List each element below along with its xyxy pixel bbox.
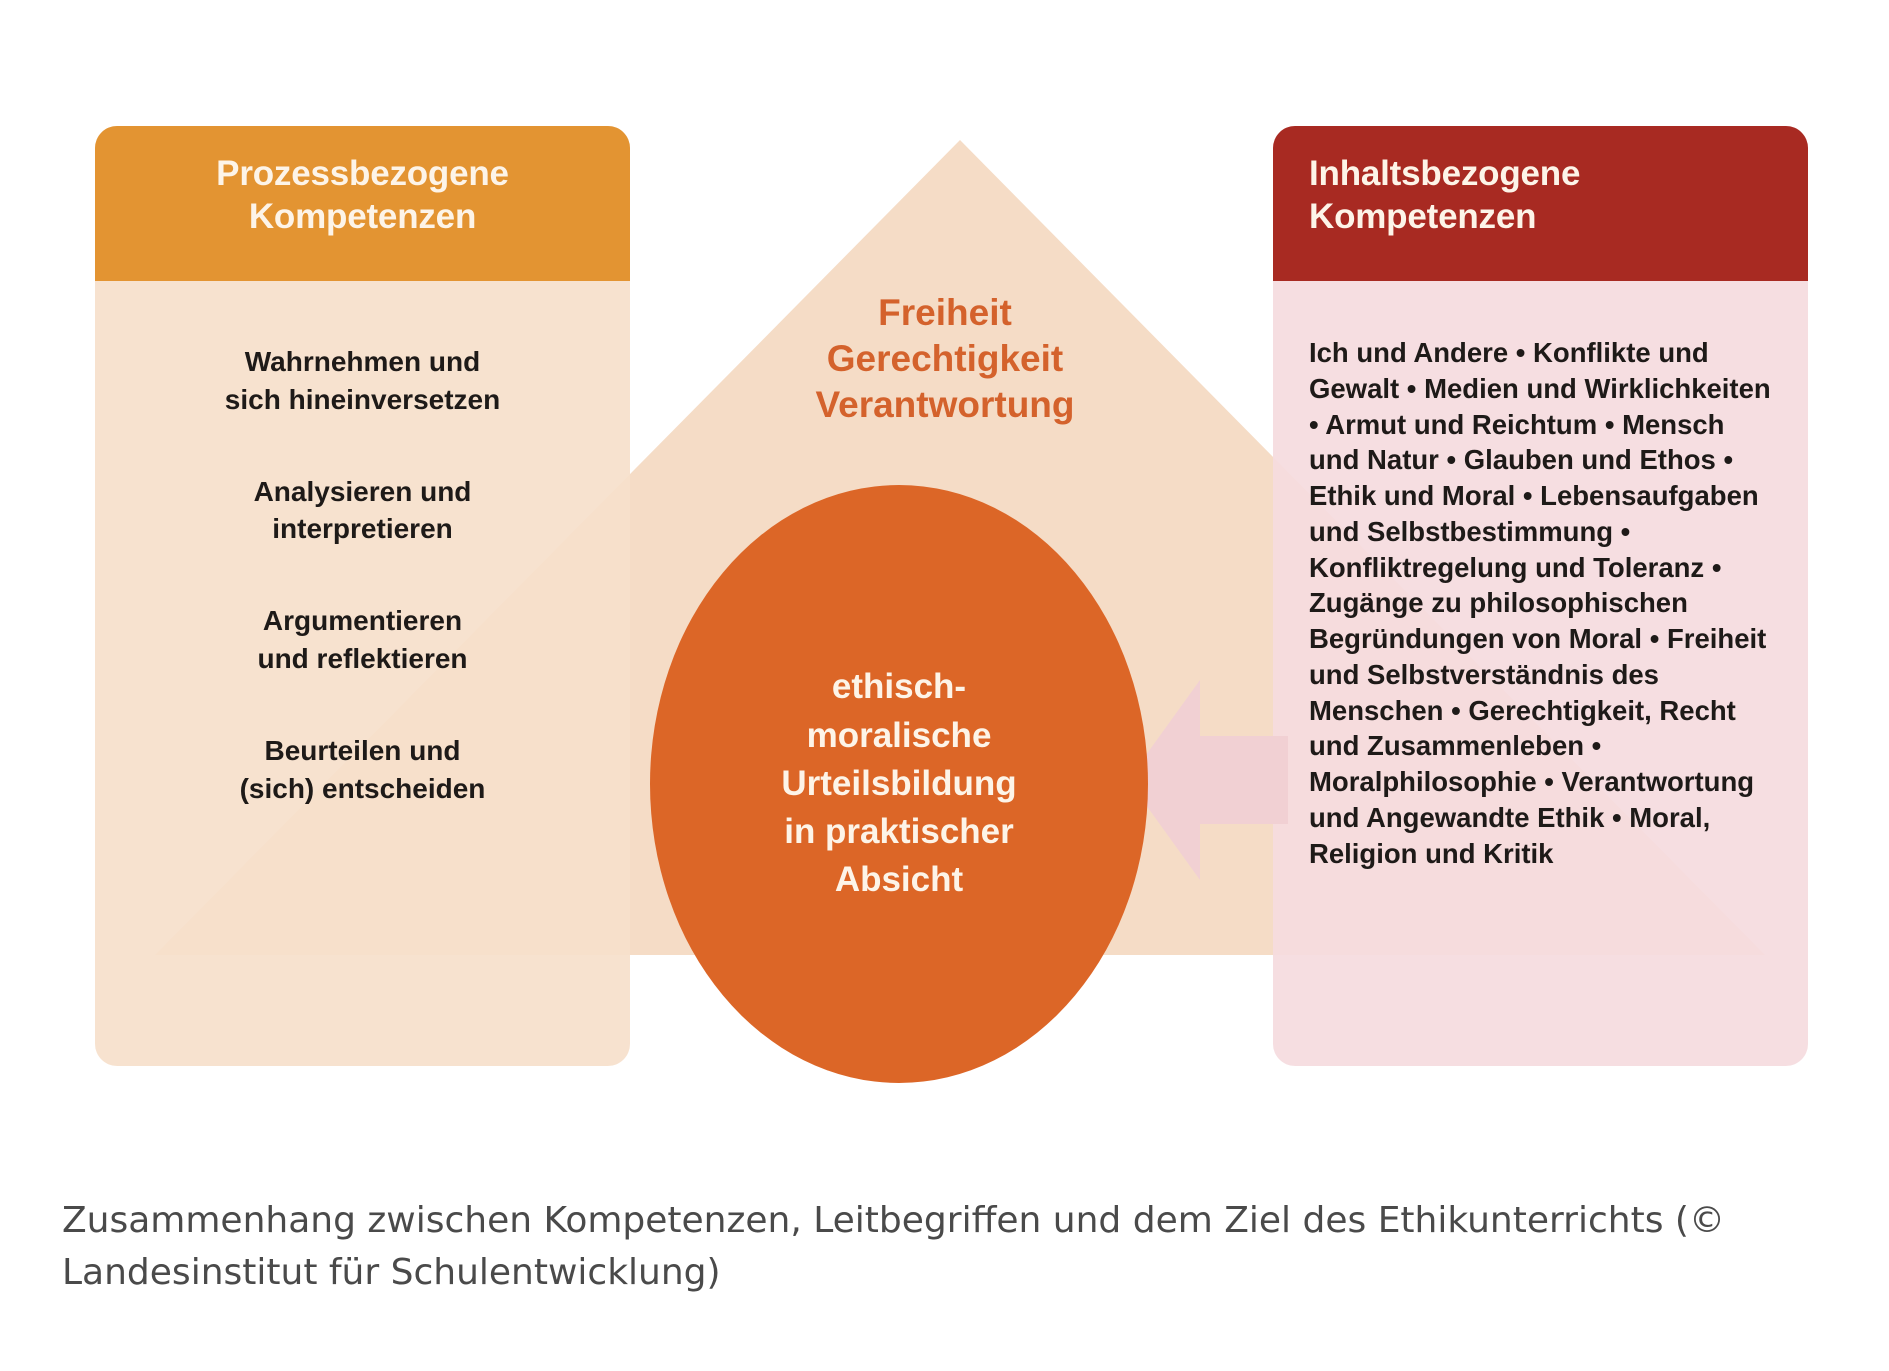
leitbegriffe-label: Freiheit Gerechtigkeit Verantwortung: [700, 290, 1190, 428]
content-competencies-card: Inhaltsbezogene Kompetenzen Ich und Ande…: [1273, 126, 1808, 1066]
list-item: Wahrnehmen und sich hineinversetzen: [127, 343, 598, 419]
content-competencies-header: Inhaltsbezogene Kompetenzen: [1273, 126, 1808, 281]
process-competencies-list: Wahrnehmen und sich hineinversetzen Anal…: [127, 343, 598, 807]
central-goal-circle: ethisch- moralische Urteilsbildung in pr…: [650, 485, 1148, 1083]
list-item: Beurteilen und (sich) entscheiden: [127, 732, 598, 808]
list-item: Analysieren und interpretieren: [127, 473, 598, 549]
central-goal-text: ethisch- moralische Urteilsbildung in pr…: [751, 663, 1046, 904]
process-competencies-header: Prozessbezogene Kompetenzen: [95, 126, 630, 281]
content-competencies-body: Ich und Andere • Konflikte und Gewalt • …: [1273, 281, 1808, 911]
content-competencies-title-line-1: Inhaltsbezogene: [1309, 152, 1778, 195]
diagram-figure: Prozessbezogene Kompetenzen Wahrnehmen u…: [0, 0, 1889, 1150]
figure-caption: Zusammenhang zwischen Kompetenzen, Leitb…: [62, 1195, 1852, 1299]
process-competencies-title-line-1: Prozessbezogene: [125, 152, 600, 195]
process-competencies-title-line-2: Kompetenzen: [125, 195, 600, 238]
content-competencies-title-line-2: Kompetenzen: [1309, 195, 1778, 238]
process-competencies-body: Wahrnehmen und sich hineinversetzen Anal…: [95, 281, 630, 847]
content-topics-paragraph: Ich und Andere • Konflikte und Gewalt • …: [1309, 335, 1776, 871]
list-item: Argumentieren und reflektieren: [127, 602, 598, 678]
process-competencies-card: Prozessbezogene Kompetenzen Wahrnehmen u…: [95, 126, 630, 1066]
